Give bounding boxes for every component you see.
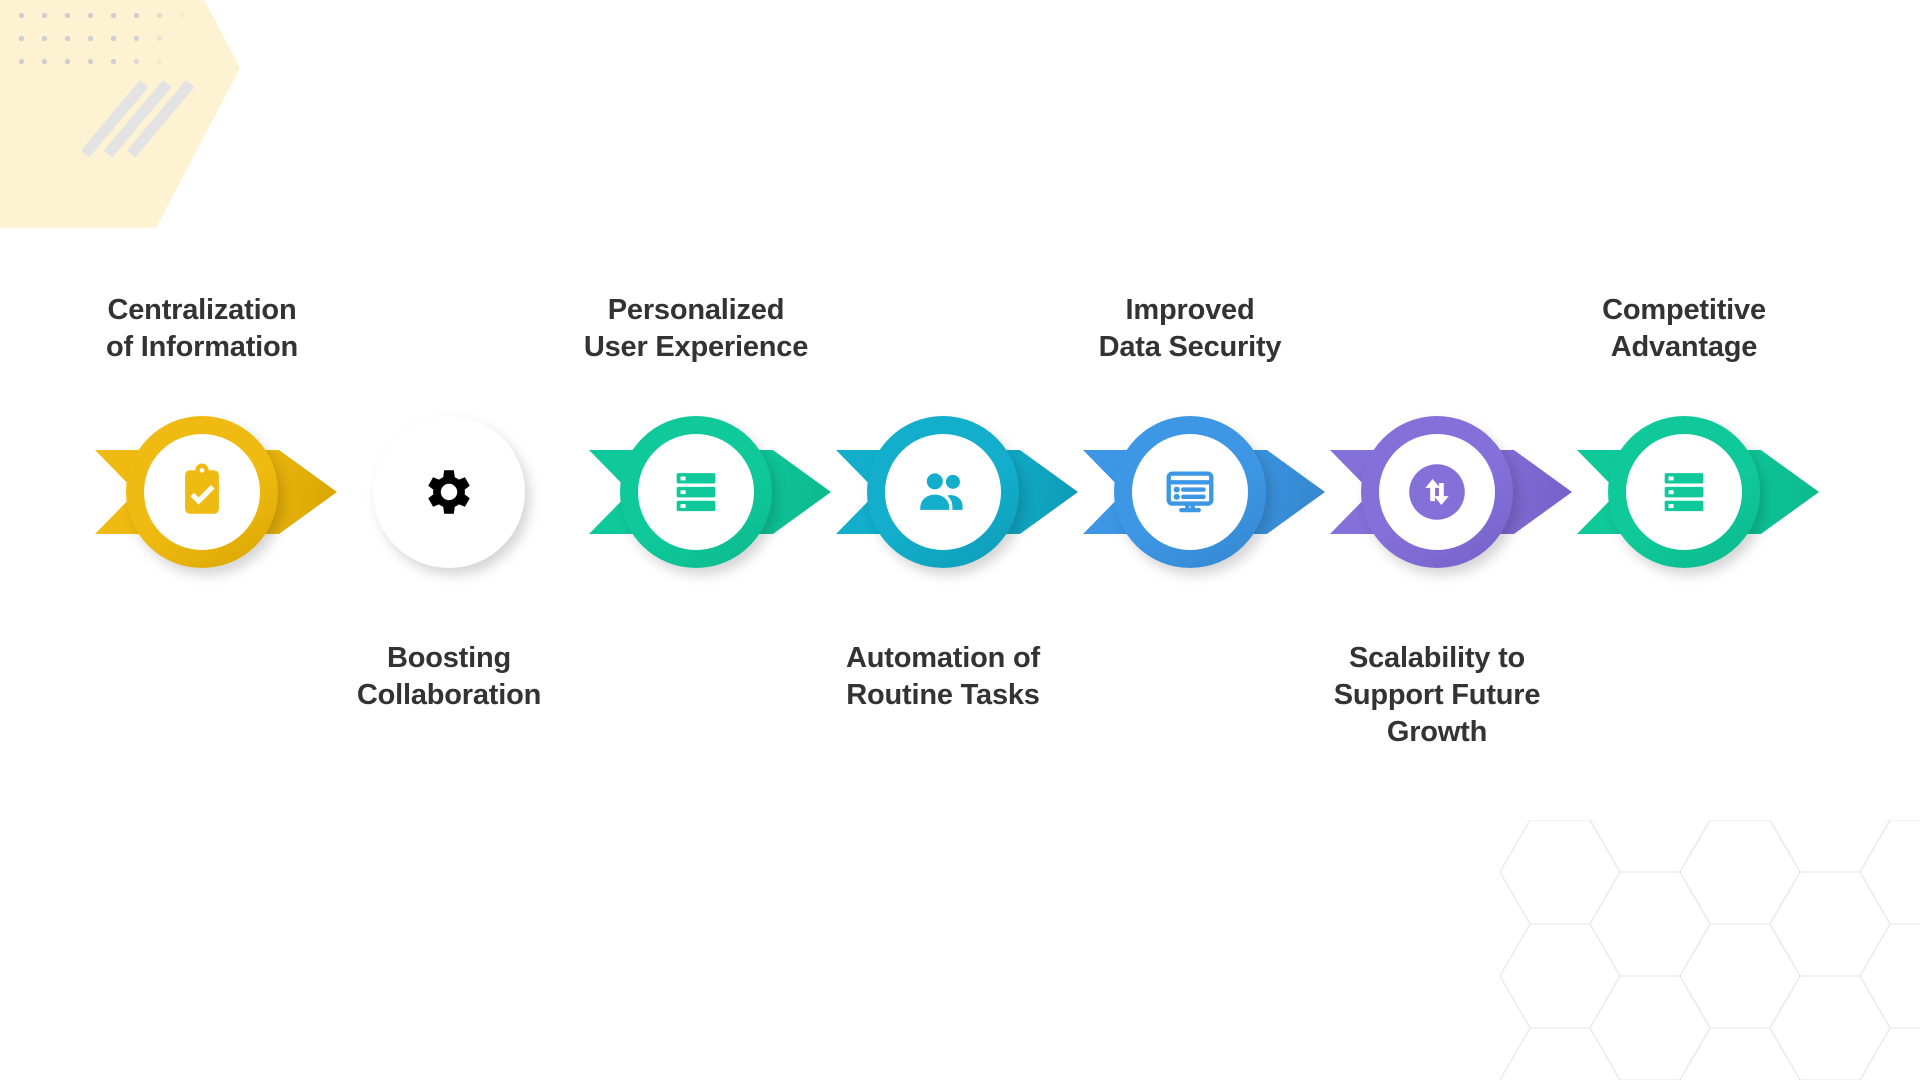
step-badge-3[interactable] bbox=[620, 416, 772, 568]
monitor-list-icon bbox=[1161, 463, 1219, 521]
step-caption-6: Scalability to Support Future Growth bbox=[1282, 640, 1592, 751]
server-list-icon bbox=[1655, 463, 1713, 521]
step-badge-2[interactable] bbox=[373, 416, 525, 568]
process-flow: Centralization of Information Boosting C… bbox=[0, 0, 1920, 1080]
step-badge-face-3 bbox=[638, 434, 754, 550]
step-badge-7[interactable] bbox=[1608, 416, 1760, 568]
users-icon bbox=[914, 463, 972, 521]
step-badge-face-2 bbox=[391, 434, 507, 550]
step-caption-3: Personalized User Experience bbox=[541, 292, 851, 366]
step-badge-face-7 bbox=[1626, 434, 1742, 550]
step-caption-2: Boosting Collaboration bbox=[294, 640, 604, 714]
step-caption-1: Centralization of Information bbox=[47, 292, 357, 366]
server-list-icon bbox=[667, 463, 725, 521]
step-caption-7: Competitive Advantage bbox=[1529, 292, 1839, 366]
step-badge-4[interactable] bbox=[867, 416, 1019, 568]
step-badge-6[interactable] bbox=[1361, 416, 1513, 568]
gear-icon bbox=[420, 463, 478, 521]
step-caption-4: Automation of Routine Tasks bbox=[788, 640, 1098, 714]
step-caption-5: Improved Data Security bbox=[1035, 292, 1345, 366]
step-badge-face-1 bbox=[144, 434, 260, 550]
step-badge-face-6 bbox=[1379, 434, 1495, 550]
step-badge-1[interactable] bbox=[126, 416, 278, 568]
step-badge-5[interactable] bbox=[1114, 416, 1266, 568]
clipboard-check-icon bbox=[173, 463, 231, 521]
up-down-arrows-icon bbox=[1408, 463, 1466, 521]
step-badge-face-4 bbox=[885, 434, 1001, 550]
step-badge-face-5 bbox=[1132, 434, 1248, 550]
